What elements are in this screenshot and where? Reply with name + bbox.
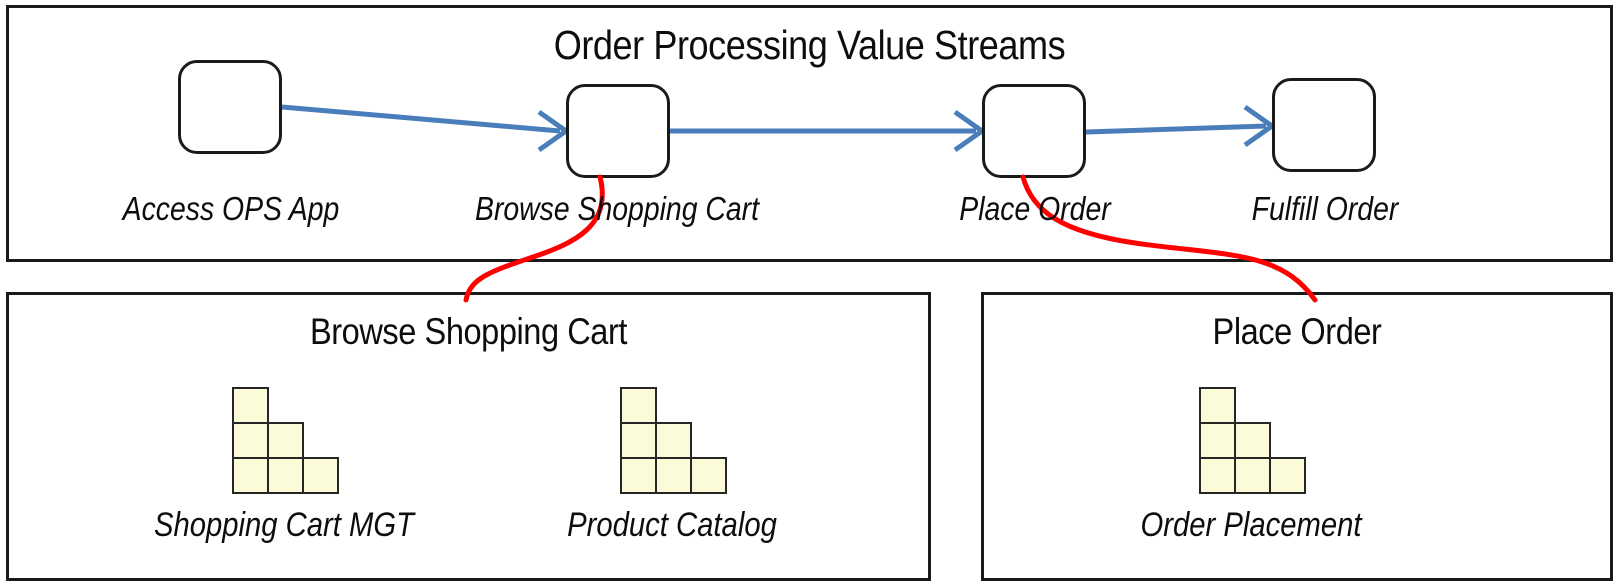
- capability-product-catalog[interactable]: Product Catalog: [620, 387, 724, 491]
- capability-cell: [620, 422, 657, 459]
- stage-box-browse-shopping-cart[interactable]: [566, 84, 670, 178]
- capability-cell: [620, 457, 657, 494]
- stage-label-fulfill-order: Fulfill Order: [1157, 190, 1492, 228]
- capability-stairs-icon: [1199, 387, 1303, 491]
- capability-cell: [267, 422, 304, 459]
- capability-cell: [267, 457, 304, 494]
- capability-cell: [232, 457, 269, 494]
- stage-label-browse-shopping-cart: Browse Shopping Cart: [449, 190, 784, 228]
- capability-cell: [690, 457, 727, 494]
- capability-stairs-icon: [620, 387, 724, 491]
- value-stream-panel-title: Order Processing Value Streams: [105, 22, 1514, 68]
- stage-label-access-ops-app: Access OPS App: [63, 190, 398, 228]
- stage-box-access-ops-app[interactable]: [178, 60, 282, 154]
- capability-cell: [1234, 457, 1271, 494]
- browse-shopping-cart-panel: Browse Shopping Cart: [6, 292, 931, 581]
- capability-label-product-catalog: Product Catalog: [567, 505, 777, 545]
- capability-cell: [655, 422, 692, 459]
- stage-box-fulfill-order[interactable]: [1272, 78, 1376, 172]
- diagram-canvas: Order Processing Value Streams Access OP…: [0, 0, 1619, 587]
- capability-cell: [1199, 422, 1236, 459]
- capability-shopping-cart-mgt[interactable]: Shopping Cart MGT: [232, 387, 336, 491]
- capability-stairs-icon: [232, 387, 336, 491]
- capability-cell: [620, 387, 657, 424]
- capability-label-shopping-cart-mgt: Shopping Cart MGT: [154, 505, 414, 545]
- capability-cell: [232, 387, 269, 424]
- browse-shopping-cart-panel-title: Browse Shopping Cart: [64, 311, 873, 353]
- stage-box-place-order[interactable]: [982, 84, 1086, 178]
- place-order-panel-title: Place Order: [1022, 311, 1573, 353]
- capability-cell: [232, 422, 269, 459]
- capability-cell: [1269, 457, 1306, 494]
- stage-label-place-order: Place Order: [867, 190, 1202, 228]
- capability-cell: [302, 457, 339, 494]
- capability-cell: [1199, 457, 1236, 494]
- capability-cell: [1234, 422, 1271, 459]
- capability-cell: [655, 457, 692, 494]
- capability-order-placement[interactable]: Order Placement: [1199, 387, 1303, 491]
- capability-cell: [1199, 387, 1236, 424]
- capability-label-order-placement: Order Placement: [1140, 505, 1361, 545]
